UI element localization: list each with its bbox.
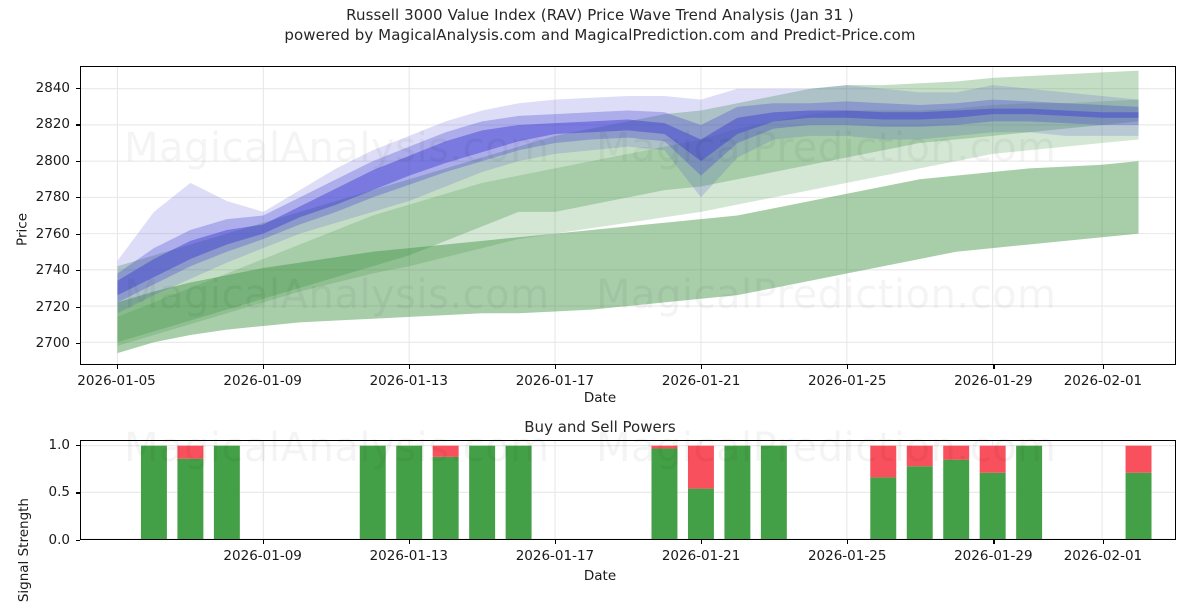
price-ytick-label: 2780 (0, 189, 70, 205)
signal-ytick-label: 0.0 (0, 532, 70, 548)
signal-xtick-mark (555, 540, 556, 544)
signal-ytick-mark (76, 540, 80, 541)
page-title: Russell 3000 Value Index (RAV) Price Wav… (0, 6, 1200, 46)
price-ytick-mark (76, 343, 80, 344)
signal-xtick-mark (847, 540, 848, 544)
price-ytick-mark (76, 124, 80, 125)
price-ytick-mark (76, 270, 80, 271)
signal-bar (870, 446, 896, 539)
signal-xtick-label: 2026-02-01 (1064, 548, 1142, 564)
signal-xtick-label: 2026-01-17 (516, 548, 594, 564)
chart-page: Russell 3000 Value Index (RAV) Price Wav… (0, 0, 1200, 600)
signal-ytick-mark (76, 492, 80, 493)
signal-xtick-mark (1103, 540, 1104, 544)
price-wave-svg (81, 67, 1175, 364)
signal-xtick-label: 2026-01-09 (223, 548, 301, 564)
buy-sell-plot-area (80, 440, 1176, 540)
price-xaxis-label: Date (584, 390, 616, 406)
price-xtick-label: 2026-01-29 (954, 373, 1032, 389)
signal-bar (724, 446, 750, 539)
signal-xtick-mark (701, 540, 702, 544)
price-xtick-mark (847, 365, 848, 369)
price-ytick-label: 2740 (0, 262, 70, 278)
signal-ytick-label: 1.0 (0, 437, 70, 453)
signal-bar (506, 446, 532, 539)
price-xtick-label: 2026-01-21 (662, 373, 740, 389)
price-xtick-mark (117, 365, 118, 369)
price-xtick-label: 2026-02-01 (1064, 373, 1142, 389)
signal-bar (360, 446, 386, 539)
signal-bar (396, 446, 422, 539)
signal-bar (761, 446, 787, 539)
signal-xtick-label: 2026-01-13 (370, 548, 448, 564)
price-xtick-mark (993, 365, 994, 369)
signal-bar (651, 446, 677, 539)
signal-xtick-label: 2026-01-21 (662, 548, 740, 564)
price-ytick-label: 2720 (0, 299, 70, 315)
price-ytick-mark (76, 88, 80, 89)
signal-xtick-mark (409, 540, 410, 544)
signal-bar (688, 446, 714, 539)
price-wave-plot-area (80, 66, 1176, 365)
price-xtick-label: 2026-01-17 (516, 373, 594, 389)
price-xtick-label: 2026-01-25 (808, 373, 886, 389)
price-xtick-mark (555, 365, 556, 369)
signal-bar (141, 446, 167, 539)
price-xtick-label: 2026-01-13 (370, 373, 448, 389)
buy-sell-svg (81, 441, 1175, 539)
title-line-primary: Russell 3000 Value Index (RAV) Price Wav… (0, 6, 1200, 26)
signal-bar (943, 446, 969, 539)
price-xtick-mark (701, 365, 702, 369)
price-xtick-mark (1103, 365, 1104, 369)
signal-bar (907, 446, 933, 539)
signal-xtick-mark (263, 540, 264, 544)
price-ytick-mark (76, 197, 80, 198)
price-ytick-mark (76, 307, 80, 308)
price-ytick-mark (76, 161, 80, 162)
signal-xtick-label: 2026-01-29 (954, 548, 1032, 564)
signal-xtick-label: 2026-01-25 (808, 548, 886, 564)
buy-sell-subtitle: Buy and Sell Powers (0, 418, 1200, 436)
signal-ytick-mark (76, 445, 80, 446)
signal-bar (469, 446, 495, 539)
signal-bar (1126, 446, 1152, 539)
signal-ytick-label: 0.5 (0, 484, 70, 500)
price-xtick-label: 2026-01-09 (223, 373, 301, 389)
signal-bar (433, 446, 459, 539)
signal-xtick-mark (993, 540, 994, 544)
price-ytick-label: 2840 (0, 80, 70, 96)
price-ytick-label: 2800 (0, 153, 70, 169)
signal-xaxis-label: Date (584, 568, 616, 584)
price-ytick-label: 2820 (0, 116, 70, 132)
signal-yaxis-label: Signal Strength (16, 498, 32, 602)
signal-bar (980, 446, 1006, 539)
signal-bar (214, 446, 240, 539)
price-ytick-label: 2760 (0, 226, 70, 242)
signal-bar (1016, 446, 1042, 539)
title-line-attribution: powered by MagicalAnalysis.com and Magic… (0, 26, 1200, 46)
price-ytick-label: 2700 (0, 335, 70, 351)
price-xtick-label: 2026-01-05 (77, 373, 155, 389)
price-yaxis-label: Price (14, 213, 30, 246)
signal-bar (177, 446, 203, 539)
price-xtick-mark (409, 365, 410, 369)
price-ytick-mark (76, 234, 80, 235)
price-xtick-mark (263, 365, 264, 369)
